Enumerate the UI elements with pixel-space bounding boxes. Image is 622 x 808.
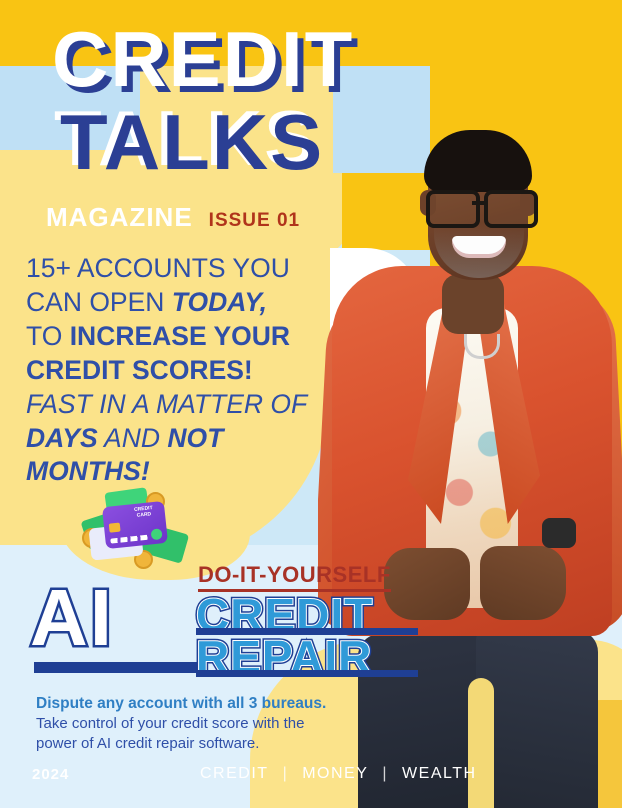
model-smile: [452, 236, 506, 258]
masthead-title-credit: CREDIT CREDIT: [52, 20, 354, 98]
magazine-label: MAGAZINE: [46, 202, 193, 233]
footer-topic-tags: CREDIT | MONEY | WEALTH: [200, 765, 477, 783]
issue-label: ISSUE 01: [209, 210, 300, 232]
deck-lead-line: Dispute any account with all 3 bureaus.: [36, 694, 416, 714]
model-hand-left: [384, 548, 470, 620]
footer-year: 2024: [32, 766, 69, 783]
deck-body-line-1: Take control of your credit score with t…: [36, 714, 416, 734]
deck-body-line-2: power of AI credit repair software.: [36, 734, 416, 754]
model-hand-right: [480, 546, 566, 620]
masthead-talks-front: TALKS: [60, 98, 324, 186]
headline-line-4: CREDIT SCORES!: [26, 354, 346, 388]
cover-headline: 15+ ACCOUNTS YOU CAN OPEN TODAY, TO INCR…: [26, 252, 346, 489]
feature-repair-underline-bar: [196, 670, 418, 677]
model-wristwatch: [542, 518, 576, 548]
cover-deck-text: Dispute any account with all 3 bureaus. …: [36, 694, 416, 754]
credit-card-icon: CREDIT CARD: [102, 501, 168, 549]
headline-line-5: FAST IN A MATTER OF: [26, 388, 346, 422]
headline-line-3: TO INCREASE YOUR: [26, 320, 346, 354]
model-jeans-gap: [468, 678, 494, 808]
footer-separator-2: |: [382, 765, 388, 783]
masthead-title-talks: TALKS TALKS: [60, 103, 324, 181]
magazine-cover: CREDIT CREDIT TALKS TALKS MAGAZINE ISSUE…: [0, 0, 622, 808]
card-chip-icon: [109, 523, 121, 533]
model-jeans-right: [476, 630, 598, 808]
credit-card-illustration: CREDIT CARD: [78, 484, 190, 568]
card-number-strip: [110, 535, 148, 544]
ai-wordmark: AI: [30, 578, 114, 658]
headline-line-2: CAN OPEN TODAY,: [26, 286, 346, 320]
headline-line-1: 15+ ACCOUNTS YOU: [26, 252, 346, 286]
model-neck: [442, 274, 504, 334]
footer-separator-1: |: [283, 765, 289, 783]
eyeglass-bridge: [472, 201, 486, 205]
footer-tag-credit: CREDIT: [200, 765, 269, 783]
masthead-subline: MAGAZINE ISSUE 01: [46, 202, 300, 233]
headline-line-6: DAYS AND NOT: [26, 422, 346, 456]
feature-kicker: DO-IT-YOURSELF: [198, 562, 391, 592]
footer-tag-money: MONEY: [302, 765, 368, 783]
card-contactless-dot: [151, 528, 163, 540]
masthead-credit-front: CREDIT: [52, 15, 354, 103]
ai-underline-bar: [34, 662, 202, 673]
masthead: CREDIT CREDIT TALKS TALKS MAGAZINE ISSUE…: [0, 0, 622, 200]
footer-tag-wealth: WEALTH: [402, 765, 476, 783]
card-label: CREDIT CARD: [126, 504, 161, 520]
